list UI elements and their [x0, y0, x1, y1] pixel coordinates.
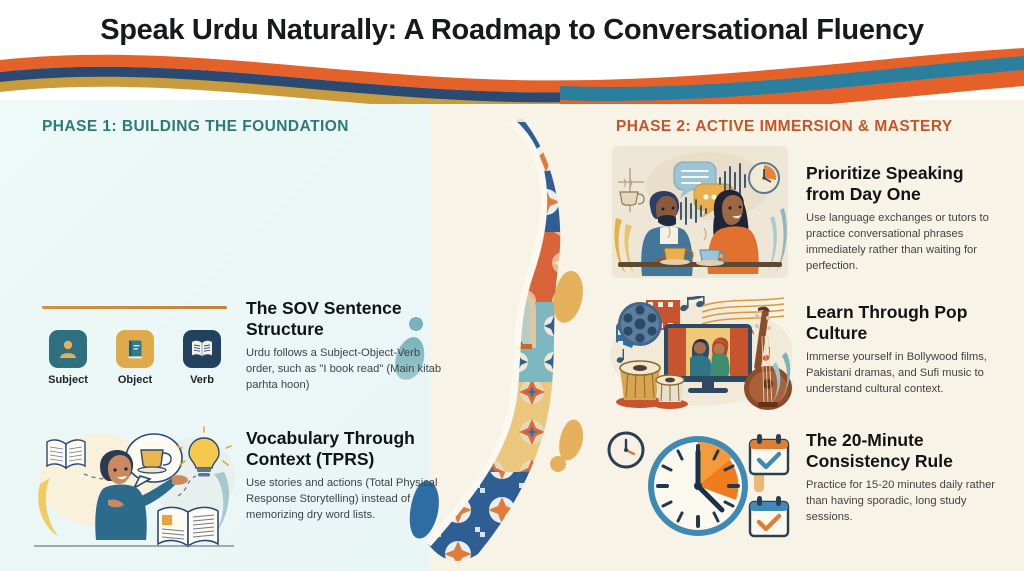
infographic-poster: Speak Urdu Naturally: A Roadmap to Conve… — [0, 0, 1024, 571]
block-speak-title: Prioritize Speaking from Day One — [806, 163, 1006, 204]
block-speak-body: Use language exchanges or tutors to prac… — [806, 211, 1006, 275]
sov-icon-object[interactable]: Object — [107, 330, 163, 402]
person-pointing-books-lightbulb-illustration — [28, 418, 240, 560]
sov-label-object: Object — [107, 374, 163, 386]
block-20min-body: Practice for 15-20 minutes daily rather … — [806, 478, 1006, 526]
block-sov-title: The SOV Sentence Structure — [246, 298, 442, 339]
open-book-icon — [183, 330, 221, 368]
poster-header: Speak Urdu Naturally: A Roadmap to Conve… — [0, 0, 1024, 100]
two-people-conversation-illustration — [612, 146, 788, 278]
block-twenty-minute-rule: The 20-Minute Consistency Rule Practice … — [806, 430, 1006, 526]
phase1-heading: PHASE 1: BUILDING THE FOUNDATION — [42, 118, 349, 136]
phase2-heading: PHASE 2: ACTIVE IMMERSION & MASTERY — [616, 118, 953, 136]
block-pop-culture: Learn Through Pop Culture Immerse yourse… — [806, 302, 1012, 398]
sov-icon-row: Subject Object — [40, 330, 230, 402]
header-wave-decoration — [0, 46, 1024, 104]
person-icon — [49, 330, 87, 368]
block-pop-title: Learn Through Pop Culture — [806, 302, 1012, 343]
page-title: Speak Urdu Naturally: A Roadmap to Conve… — [0, 14, 1024, 47]
sov-label-verb: Verb — [174, 374, 230, 386]
block-sov: The SOV Sentence Structure Urdu follows … — [246, 298, 442, 394]
closed-book-icon — [116, 330, 154, 368]
sov-divider-rule — [42, 306, 227, 309]
film-reel-tv-tabla-sitar-illustration — [606, 296, 792, 410]
clock-calendar-illustration — [602, 426, 792, 544]
block-tprs-title: Vocabulary Through Context (TPRS) — [246, 428, 442, 469]
block-speak-day-one: Prioritize Speaking from Day One Use lan… — [806, 163, 1006, 275]
sov-icon-verb[interactable]: Verb — [174, 330, 230, 402]
block-pop-body: Immerse yourself in Bollywood films, Pak… — [806, 350, 1012, 398]
block-20min-title: The 20-Minute Consistency Rule — [806, 430, 1006, 471]
block-sov-body: Urdu follows a Subject-Object-Verb order… — [246, 346, 442, 394]
block-tprs-body: Use stories and actions (Total Physical … — [246, 476, 442, 524]
block-tprs: Vocabulary Through Context (TPRS) Use st… — [246, 428, 442, 524]
sov-icon-subject[interactable]: Subject — [40, 330, 96, 402]
sov-label-subject: Subject — [40, 374, 96, 386]
